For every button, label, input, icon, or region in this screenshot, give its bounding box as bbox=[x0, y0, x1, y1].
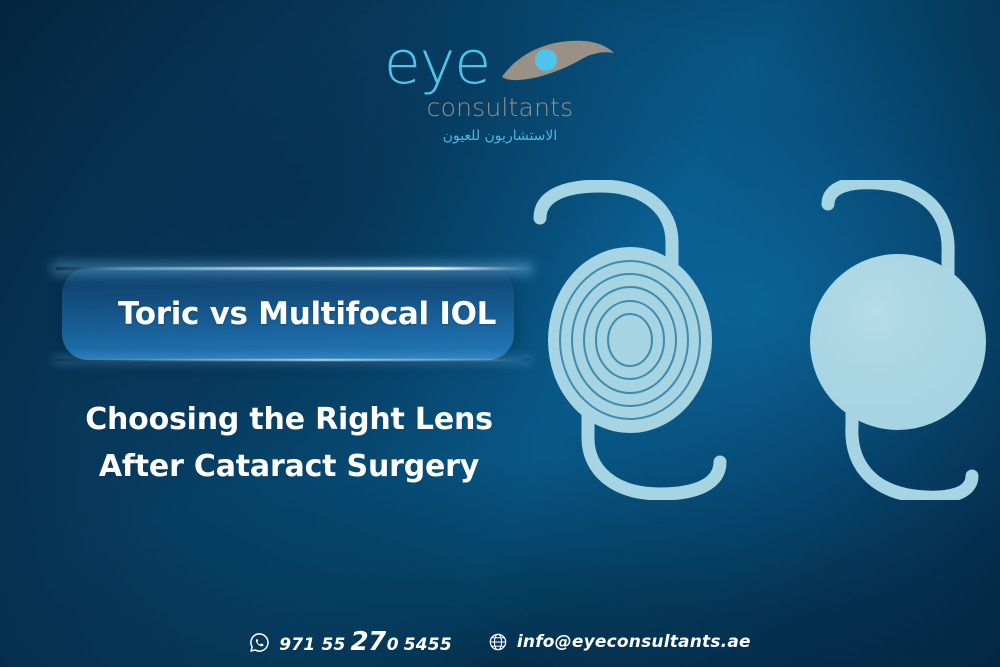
badge-bottom-glow bbox=[56, 359, 530, 361]
toric-iol-illustration bbox=[790, 180, 1000, 500]
brand-arabic-tagline: الاستشاريون للعيون bbox=[0, 127, 1000, 145]
headline-line-1: Choosing the Right Lens bbox=[50, 396, 528, 443]
globe-icon bbox=[488, 632, 508, 652]
multifocal-iol-illustration bbox=[520, 180, 740, 500]
phone-prefix: 971 55 bbox=[279, 635, 345, 655]
phone-emphasis: 27 bbox=[351, 627, 386, 657]
badge-top-glow bbox=[56, 267, 530, 270]
headline-line-2: After Cataract Surgery bbox=[50, 443, 528, 490]
phone-contact[interactable]: 971 55 27 0 5455 bbox=[249, 627, 452, 657]
email-address: info@eyeconsultants.ae bbox=[517, 632, 751, 652]
brand-wordmark: eye bbox=[384, 34, 490, 92]
whatsapp-icon bbox=[249, 632, 270, 653]
phone-middle: 0 bbox=[387, 635, 399, 655]
brand-subword: consultants bbox=[0, 94, 1000, 122]
poster-canvas: eye consultants الاستشاريون للعيون Toric… bbox=[0, 0, 1000, 667]
brand-logo: eye consultants الاستشاريون للعيون bbox=[0, 34, 1000, 145]
email-contact[interactable]: info@eyeconsultants.ae bbox=[488, 632, 751, 652]
title-badge: Toric vs Multifocal IOL bbox=[62, 268, 514, 360]
phone-suffix: 5455 bbox=[404, 635, 452, 655]
eye-outline-icon bbox=[500, 37, 616, 90]
badge-label: Toric vs Multifocal IOL bbox=[118, 296, 496, 332]
footer-contacts: 971 55 27 0 5455 info@eyeconsultants.ae bbox=[0, 627, 1000, 657]
headline: Choosing the Right Lens After Cataract S… bbox=[50, 396, 528, 490]
